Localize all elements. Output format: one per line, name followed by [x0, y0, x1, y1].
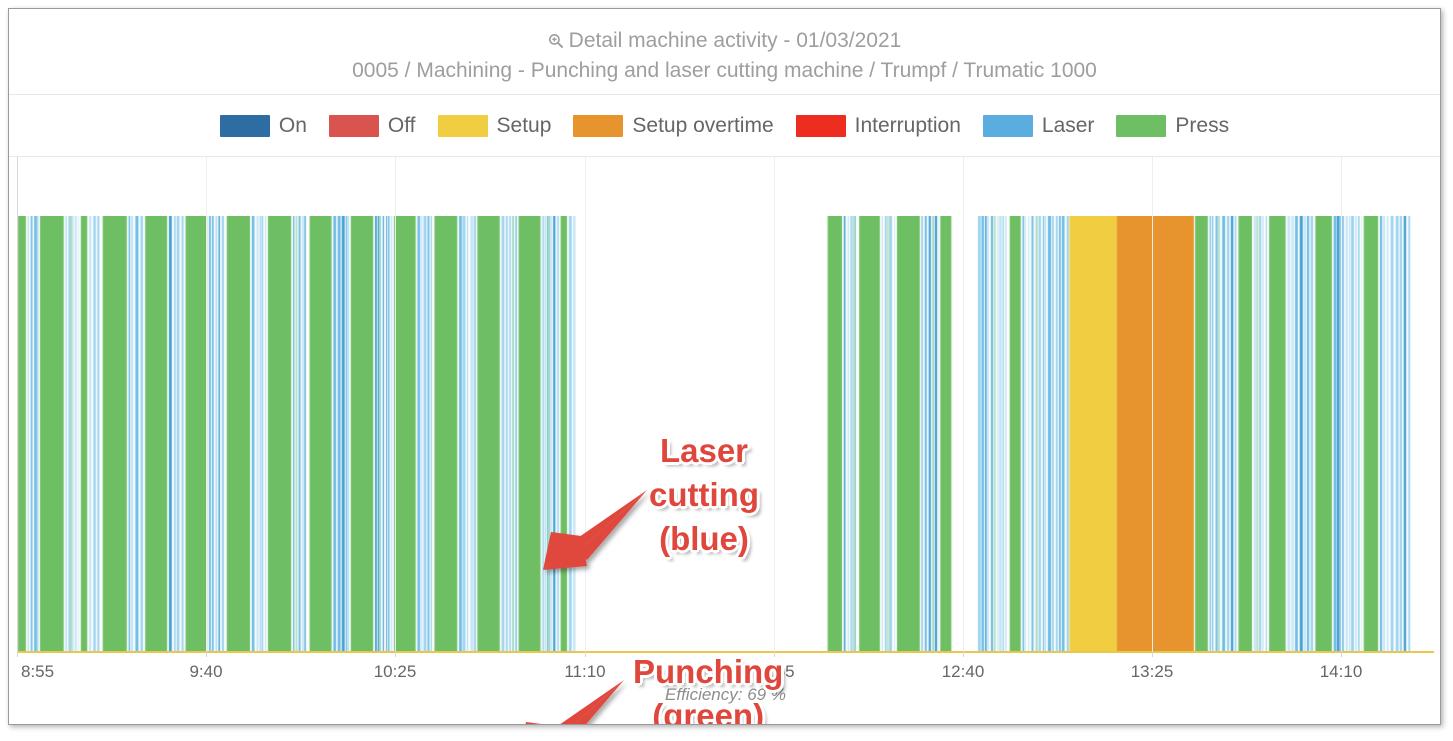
legend-swatch-icon [1116, 115, 1166, 137]
gridline [1152, 157, 1153, 653]
axis-tick-mark [17, 651, 18, 657]
x-axis-tick-label: 8:55 [21, 662, 54, 682]
legend-item-label: Press [1175, 114, 1229, 138]
gridline [774, 157, 775, 653]
legend-item-setup-overtime[interactable]: Setup overtime [573, 114, 773, 138]
x-axis-tick-label: 10:25 [374, 662, 417, 682]
legend-item-press[interactable]: Press [1116, 114, 1229, 138]
legend-swatch-icon [329, 115, 379, 137]
x-axis-tick-label: 11:10 [564, 662, 605, 682]
x-axis-tick-label: 9:40 [189, 662, 222, 682]
panel-header: Detail machine activity - 01/03/2021 000… [9, 9, 1440, 95]
legend-item-setup[interactable]: Setup [438, 114, 552, 138]
axis-tick-mark [206, 651, 207, 657]
x-axis-tick-label: 12:40 [942, 662, 985, 682]
activity-bars[interactable] [17, 216, 1434, 652]
legend-item-label: On [279, 114, 307, 138]
axis-tick-mark [395, 651, 396, 657]
gridline [206, 157, 207, 653]
page-subtitle: 0005 / Machining - Punching and laser cu… [9, 59, 1440, 83]
page-title-text: Detail machine activity - 01/03/2021 [569, 29, 902, 52]
legend-item-label: Setup [497, 114, 552, 138]
legend-item-label: Interruption [855, 114, 961, 138]
page-title: Detail machine activity - 01/03/2021 [9, 29, 1440, 53]
legend-swatch-icon [220, 115, 270, 137]
plot-inner [17, 157, 1434, 653]
gridline [395, 157, 396, 653]
legend-item-label: Off [388, 114, 416, 138]
x-axis-tick-label: 11:55 [753, 662, 794, 682]
legend-swatch-icon [796, 115, 846, 137]
x-axis-tick-label: 13:25 [1131, 662, 1174, 682]
legend-swatch-icon [573, 115, 623, 137]
legend-item-label: Laser [1042, 114, 1095, 138]
legend-item-interruption[interactable]: Interruption [796, 114, 961, 138]
legend-item-off[interactable]: Off [329, 114, 416, 138]
legend-item-laser[interactable]: Laser [983, 114, 1095, 138]
x-axis-tick-label: 14:10 [1320, 662, 1363, 682]
gridline [17, 157, 18, 653]
axis-tick-mark [963, 651, 964, 657]
gridline [585, 157, 586, 653]
efficiency-label: Efficiency: 69 % [9, 685, 1441, 705]
gridline [963, 157, 964, 653]
legend-swatch-icon [438, 115, 488, 137]
axis-tick-mark [774, 651, 775, 657]
chart-plot-area: 8:559:4010:2511:1011:5512:4013:2514:10 E… [9, 157, 1441, 725]
legend-swatch-icon [983, 115, 1033, 137]
legend-item-label: Setup overtime [632, 114, 773, 138]
gridline [1341, 157, 1342, 653]
legend-item-on[interactable]: On [220, 114, 307, 138]
chart-baseline [17, 651, 1434, 653]
axis-tick-mark [1152, 651, 1153, 657]
magnifier-plus-icon[interactable] [548, 33, 564, 49]
machine-activity-panel: Detail machine activity - 01/03/2021 000… [8, 8, 1441, 725]
chart-legend: OnOffSetupSetup overtimeInterruptionLase… [9, 95, 1440, 157]
axis-tick-mark [1341, 651, 1342, 657]
axis-tick-mark [585, 651, 586, 657]
